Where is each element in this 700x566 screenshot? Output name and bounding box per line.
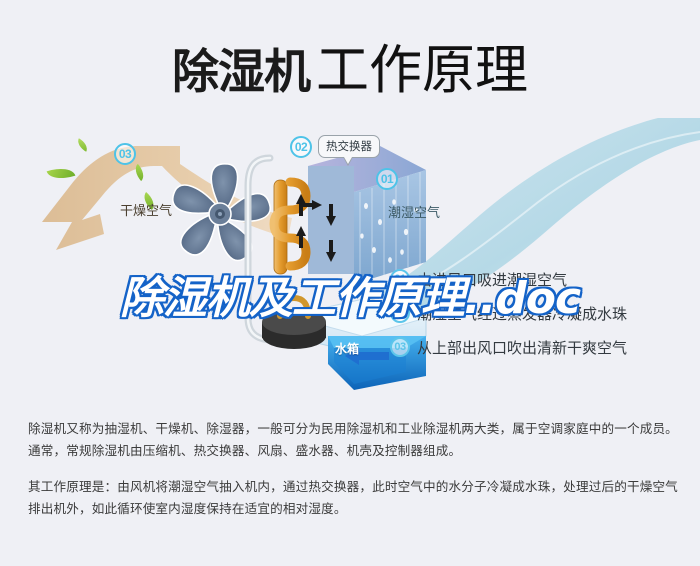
- legend-text-02: 潮湿空气经过蒸发器冷凝成水珠: [417, 303, 627, 324]
- diagram-badge-03: 03: [114, 143, 136, 165]
- body-paragraph-2: 其工作原理是：由风机将潮湿空气抽入机内，通过热交换器，此时空气中的水分子冷凝成水…: [28, 476, 678, 520]
- legend-item: 01 由进风口吸进潮湿空气: [390, 265, 690, 293]
- page-title-secondary: 工作原理: [316, 41, 528, 100]
- process-step-legend: 01 由进风口吸进潮湿空气 02 潮湿空气经过蒸发器冷凝成水珠 03 从上部出风…: [390, 265, 690, 367]
- page-title-primary: 除湿机: [172, 45, 310, 98]
- legend-text-03: 从上部出风口吹出清新干爽空气: [417, 337, 627, 358]
- page-title: 除湿机工作原理: [0, 28, 700, 104]
- heat-exchanger-callout: 热交换器: [318, 135, 380, 158]
- legend-badge-02: 02: [390, 303, 410, 323]
- dry-air-label: 干燥空气: [120, 200, 172, 219]
- legend-badge-03: 03: [390, 337, 410, 357]
- article-body: 除湿机又称为抽湿机、干燥机、除湿器，一般可分为民用除湿机和工业除湿机两大类，属于…: [28, 418, 678, 534]
- diagram-badge-02: 02: [290, 136, 312, 158]
- water-tank-label: 水箱: [335, 340, 359, 357]
- legend-badge-01: 01: [390, 269, 410, 289]
- body-paragraph-1: 除湿机又称为抽湿机、干燥机、除湿器，一般可分为民用除湿机和工业除湿机两大类，属于…: [28, 418, 678, 462]
- legend-text-01: 由进风口吸进潮湿空气: [417, 269, 567, 290]
- legend-item: 03 从上部出风口吹出清新干爽空气: [390, 333, 690, 361]
- legend-item: 02 潮湿空气经过蒸发器冷凝成水珠: [390, 299, 690, 327]
- diagram-badge-01: 01: [376, 168, 398, 190]
- humid-air-label: 潮湿空气: [388, 202, 440, 221]
- heat-exchanger-callout-label: 热交换器: [326, 141, 372, 153]
